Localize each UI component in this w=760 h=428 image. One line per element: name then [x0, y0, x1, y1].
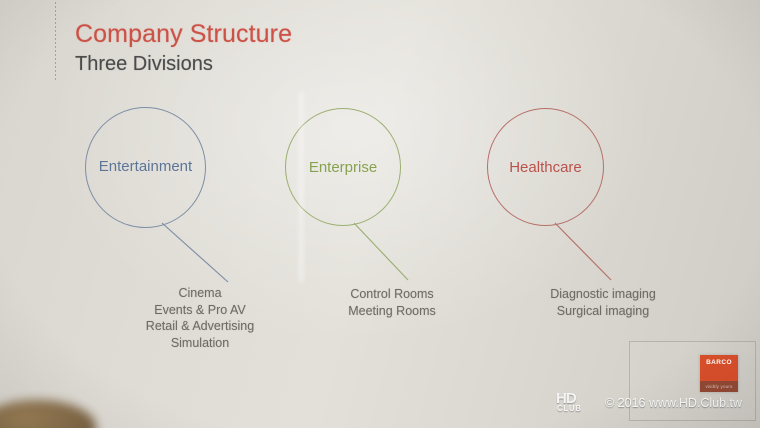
division-details-entertainment: Cinema Events & Pro AV Retail & Advertis… [100, 285, 300, 351]
projected-slide-photo: Company Structure Three Divisions Entert… [0, 0, 760, 428]
page-subtitle: Three Divisions [75, 52, 213, 77]
connector-line-entertainment [160, 222, 230, 284]
hd-club-logo-bottom: CLUB [557, 404, 582, 413]
division-label-healthcare: Healthcare [487, 159, 604, 177]
watermark: HD CLUB © 2016 www.HD.Club.tw [556, 390, 742, 416]
division-details-enterprise: Control Rooms Meeting Rooms [292, 286, 492, 319]
division-label-enterprise: Enterprise [285, 159, 401, 177]
title-accent-rule [55, 2, 56, 80]
division-details-healthcare: Diagnostic imaging Surgical imaging [503, 286, 703, 319]
hd-club-logo-icon: HD CLUB [556, 391, 598, 415]
connector-line-healthcare [553, 222, 613, 282]
connector-line-enterprise [352, 222, 410, 282]
watermark-text: © 2016 www.HD.Club.tw [605, 396, 742, 410]
division-label-entertainment: Entertainment [85, 158, 206, 176]
page-title: Company Structure [75, 19, 292, 49]
barco-logo: BARCO visibly yours [700, 355, 738, 392]
barco-wordmark: BARCO [700, 359, 738, 366]
blurred-foreground-person [0, 400, 96, 428]
